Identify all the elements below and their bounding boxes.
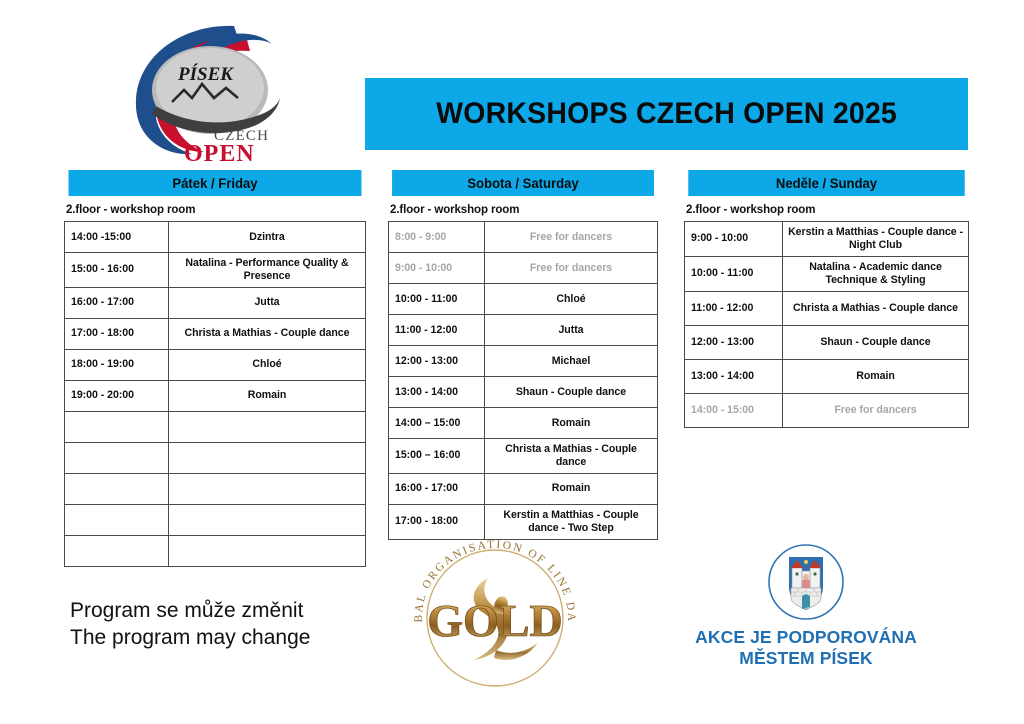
schedule-row: 13:00 - 14:00Shaun - Couple dance: [389, 377, 658, 408]
floor-label-friday: 2.floor - workshop room: [64, 204, 366, 216]
schedule-row-empty: [65, 473, 366, 504]
day-column-saturday: Sobota / Saturday 2.floor - workshop roo…: [388, 170, 658, 540]
schedule-activity-cell: Natalina - Performance Quality & Presenc…: [169, 253, 366, 288]
schedule-activity-cell: Romain: [485, 408, 658, 439]
schedule-activity-cell: Romain: [783, 359, 969, 393]
schedule-row: 11:00 - 12:00Jutta: [389, 315, 658, 346]
schedule-activity-cell: Chloé: [485, 284, 658, 315]
schedule-activity-cell: Dzintra: [169, 222, 366, 253]
schedule-time-cell: 13:00 - 14:00: [685, 359, 783, 393]
schedule-time-cell: 14:00 - 15:00: [685, 393, 783, 427]
schedule-row-empty: [65, 504, 366, 535]
schedule-row: 10:00 - 11:00Chloé: [389, 284, 658, 315]
schedule-activity-cell: Romain: [169, 380, 366, 411]
schedule-row: 12:00 - 13:00Michael: [389, 346, 658, 377]
schedule-row: 12:00 - 13:00Shaun - Couple dance: [685, 325, 969, 359]
schedule-table-friday: 14:00 -15:00Dzintra15:00 - 16:00Natalina…: [64, 221, 366, 567]
schedule-row: 17:00 - 18:00Kerstin a Matthias - Couple…: [389, 504, 658, 539]
schedule-row: 13:00 - 14:00Romain: [685, 359, 969, 393]
schedule-time-cell: 15:00 – 16:00: [389, 439, 485, 474]
schedule-row: 9:00 - 10:00Kerstin a Matthias - Couple …: [685, 222, 969, 257]
schedule-activity-cell: Jutta: [485, 315, 658, 346]
schedule-row: 14:00 -15:00Dzintra: [65, 222, 366, 253]
schedule-row: 14:00 – 15:00Romain: [389, 408, 658, 439]
floor-label-sunday: 2.floor - workshop room: [684, 204, 969, 216]
support-text: AKCE JE PODPOROVÁNA MĚSTEM PÍSEK: [686, 627, 926, 669]
schedule-activity-cell: Kerstin a Matthias - Couple dance - Two …: [485, 504, 658, 539]
schedule-row: 19:00 - 20:00Romain: [65, 380, 366, 411]
day-header-sunday: Neděle / Sunday: [688, 170, 964, 196]
schedule-free-cell: Free for dancers: [485, 253, 658, 284]
page-title-banner: WORKSHOPS CZECH OPEN 2025: [365, 78, 968, 150]
floor-label-saturday: 2.floor - workshop room: [388, 204, 658, 216]
day-header-friday: Pátek / Friday: [69, 170, 362, 196]
day-column-friday: Pátek / Friday 2.floor - workshop room 1…: [64, 170, 366, 567]
schedule-time-cell: 11:00 - 12:00: [389, 315, 485, 346]
schedule-time-cell: [65, 535, 169, 566]
schedule-activity-cell: Romain: [485, 473, 658, 504]
schedule-row: 16:00 - 17:00Jutta: [65, 287, 366, 318]
schedule-activity-cell: [169, 442, 366, 473]
schedule-row: 16:00 - 17:00Romain: [389, 473, 658, 504]
pisek-city-support: AKCE JE PODPOROVÁNA MĚSTEM PÍSEK: [686, 543, 926, 669]
schedule-table-saturday: 8:00 - 9:00Free for dancers9:00 - 10:00F…: [388, 221, 658, 540]
schedule-activity-cell: Shaun - Couple dance: [783, 325, 969, 359]
schedule-time-cell: [65, 504, 169, 535]
schedule-activity-cell: Kerstin a Matthias - Couple dance - Nigh…: [783, 222, 969, 257]
schedule-row: 17:00 - 18:00Christa a Mathias - Couple …: [65, 318, 366, 349]
gold-line-dance-logo: GLOBAL ORGANISATION OF LINE DANCE GOLD: [400, 538, 590, 688]
schedule-row: 15:00 – 16:00Christa a Mathias - Couple …: [389, 439, 658, 474]
schedule-activity-cell: Christa a Mathias - Couple dance: [485, 439, 658, 474]
schedule-time-cell: 12:00 - 13:00: [685, 325, 783, 359]
day-column-sunday: Neděle / Sunday 2.floor - workshop room …: [684, 170, 969, 428]
schedule-time-cell: [65, 473, 169, 504]
schedule-activity-cell: [169, 473, 366, 504]
schedule-activity-cell: Christa a Mathias - Couple dance: [783, 291, 969, 325]
schedule-time-cell: 10:00 - 11:00: [685, 256, 783, 291]
schedule-body-sunday: 9:00 - 10:00Kerstin a Matthias - Couple …: [685, 222, 969, 428]
schedule-time-cell: [65, 411, 169, 442]
schedule-activity-cell: [169, 411, 366, 442]
schedule-time-cell: 14:00 – 15:00: [389, 408, 485, 439]
schedule-row: 14:00 - 15:00Free for dancers: [685, 393, 969, 427]
schedule-row: 10:00 - 11:00Natalina - Academic dance T…: [685, 256, 969, 291]
schedule-activity-cell: Christa a Mathias - Couple dance: [169, 318, 366, 349]
schedule-time-cell: 16:00 - 17:00: [389, 473, 485, 504]
schedule-row-empty: [65, 411, 366, 442]
schedule-row: 8:00 - 9:00Free for dancers: [389, 222, 658, 253]
schedule-activity-cell: [169, 504, 366, 535]
schedule-time-cell: 18:00 - 19:00: [65, 349, 169, 380]
pisek-coat-of-arms: [686, 543, 926, 621]
gold-wordmark: GOLD: [427, 595, 562, 646]
schedule-activity-cell: Michael: [485, 346, 658, 377]
schedule-time-cell: 16:00 - 17:00: [65, 287, 169, 318]
schedule-time-cell: 15:00 - 16:00: [65, 253, 169, 288]
schedule-time-cell: 12:00 - 13:00: [389, 346, 485, 377]
schedule-time-cell: 9:00 - 10:00: [685, 222, 783, 257]
schedule-body-friday: 14:00 -15:00Dzintra15:00 - 16:00Natalina…: [65, 222, 366, 567]
schedule-time-cell: 17:00 - 18:00: [65, 318, 169, 349]
schedule-time-cell: 13:00 - 14:00: [389, 377, 485, 408]
schedule-time-cell: [65, 442, 169, 473]
schedule-row-empty: [65, 535, 366, 566]
schedule-row: 15:00 - 16:00Natalina - Performance Qual…: [65, 253, 366, 288]
schedule-time-cell: 17:00 - 18:00: [389, 504, 485, 539]
schedule-time-cell: 11:00 - 12:00: [685, 291, 783, 325]
schedule-activity-cell: Jutta: [169, 287, 366, 318]
schedule-row: 18:00 - 19:00Chloé: [65, 349, 366, 380]
schedule-activity-cell: Chloé: [169, 349, 366, 380]
schedule-time-cell: 8:00 - 9:00: [389, 222, 485, 253]
schedule-free-cell: Free for dancers: [485, 222, 658, 253]
schedule-body-saturday: 8:00 - 9:00Free for dancers9:00 - 10:00F…: [389, 222, 658, 540]
schedule-activity-cell: Shaun - Couple dance: [485, 377, 658, 408]
schedule-time-cell: 19:00 - 20:00: [65, 380, 169, 411]
day-header-saturday: Sobota / Saturday: [392, 170, 654, 196]
logo-pisek-text: PÍSEK: [177, 63, 234, 85]
schedule-activity-cell: [169, 535, 366, 566]
schedule-activity-cell: Natalina - Academic dance Technique & St…: [783, 256, 969, 291]
logo-open-text: OPEN: [184, 141, 255, 166]
schedule-free-cell: Free for dancers: [783, 393, 969, 427]
czech-open-pisek-logo: PÍSEK CZECH OPEN: [122, 18, 292, 166]
schedule-time-cell: 10:00 - 11:00: [389, 284, 485, 315]
schedule-time-cell: 9:00 - 10:00: [389, 253, 485, 284]
schedule-time-cell: 14:00 -15:00: [65, 222, 169, 253]
schedule-row: 11:00 - 12:00Christa a Mathias - Couple …: [685, 291, 969, 325]
schedule-row: 9:00 - 10:00Free for dancers: [389, 253, 658, 284]
page-title: WORKSHOPS CZECH OPEN 2025: [436, 97, 897, 131]
schedule-row-empty: [65, 442, 366, 473]
program-change-note: Program se může změnit The program may c…: [70, 598, 310, 652]
schedule-table-sunday: 9:00 - 10:00Kerstin a Matthias - Couple …: [684, 221, 969, 428]
